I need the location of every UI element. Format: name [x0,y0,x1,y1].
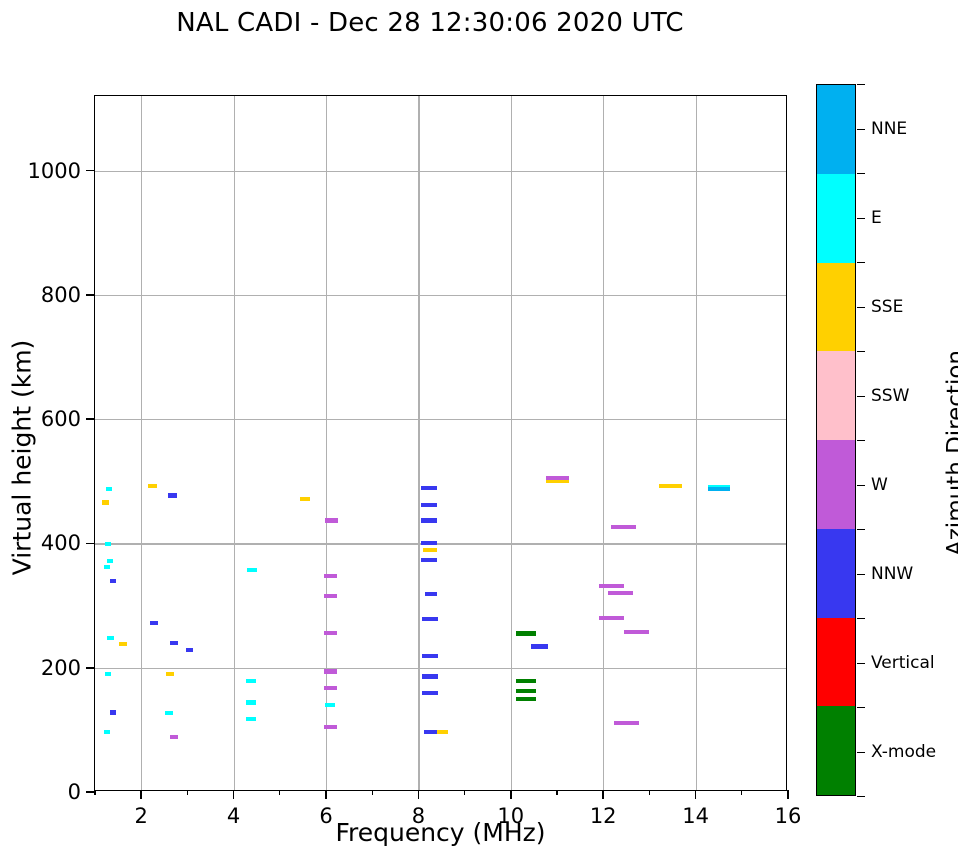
x-gridline [418,96,419,790]
data-marker [422,674,438,678]
x-gridline [696,96,697,790]
data-marker [107,636,114,640]
y-axis-tick-label: 1000 [28,159,81,183]
colorbar-title: Azimuth Direction [943,303,958,603]
data-marker [516,631,536,635]
data-marker [611,525,636,529]
data-marker [516,679,536,683]
x-axis-minor-tick [94,790,95,795]
x-gridline [511,96,512,790]
data-marker [105,672,111,676]
colorbar-segment-sse [817,263,855,352]
data-marker [106,487,112,491]
colorbar-label-sse: SSE [871,297,903,317]
x-axis-tick [418,790,420,799]
y-axis-tick-label: 600 [41,407,81,431]
data-marker [325,703,335,707]
colorbar-segment-nne [817,85,855,174]
colorbar-boundary-tick [857,351,865,352]
data-marker [166,672,174,676]
data-marker [105,542,111,546]
data-marker [421,558,437,562]
y-gridline [95,295,786,296]
data-marker [516,697,536,701]
colorbar-tick [857,396,865,397]
data-marker [423,548,437,552]
data-marker [165,711,173,715]
colorbar-label-w: W [871,475,888,495]
x-axis-tick [695,790,697,799]
data-marker [168,493,177,497]
data-marker [421,503,437,507]
x-axis-minor-tick [741,790,742,795]
data-marker [614,721,639,725]
colorbar-segment-ssw [817,351,855,440]
data-marker [708,487,730,491]
x-axis-title: Frequency (MHz) [94,818,787,847]
colorbar-label-x-mode: X-mode [871,742,936,762]
data-marker [104,565,110,569]
data-marker [170,735,178,739]
data-marker [422,617,438,621]
colorbar-segment-x-mode [817,706,855,795]
colorbar-boundary-tick [857,529,865,530]
y-axis-tick [86,543,95,545]
colorbar-segment-nnw [817,529,855,618]
x-gridline [603,96,604,790]
y-axis-tick [86,418,95,420]
x-axis-tick [602,790,604,799]
colorbar-boundary-tick [857,618,865,619]
x-gridline [234,96,235,790]
data-marker [599,616,624,620]
y-axis-tick-label: 200 [41,656,81,680]
data-marker [624,630,649,634]
colorbar-boundary-tick [857,173,865,174]
data-marker [516,689,536,693]
colorbar-tick [857,129,865,130]
y-axis-tick-label: 400 [41,531,81,555]
x-axis-minor-tick [279,790,280,795]
data-marker [422,654,438,658]
data-marker [110,579,116,583]
data-marker [608,591,633,595]
data-marker [324,669,337,673]
y-axis-tick [86,667,95,669]
data-marker [186,648,193,652]
colorbar-label-vertical: Vertical [871,653,935,673]
data-marker [148,484,157,488]
colorbar-tick [857,574,865,575]
colorbar-tick [857,218,865,219]
data-marker [247,568,257,572]
data-marker [170,641,178,645]
data-marker [102,500,109,504]
x-axis-minor-tick [464,790,465,795]
data-marker [119,642,127,646]
x-axis-minor-tick [649,790,650,795]
y-axis-tick [86,294,95,296]
colorbar-boundary-tick [857,262,865,263]
data-marker [300,497,310,501]
colorbar-segment-e [817,174,855,263]
data-marker [324,574,337,578]
colorbar-segment-w [817,440,855,529]
colorbar-label-nne: NNE [871,119,907,139]
colorbar-segment-vertical [817,618,855,707]
data-marker [324,686,337,690]
data-marker [324,631,337,635]
data-marker [659,484,682,488]
data-marker [421,518,437,522]
colorbar-label-e: E [871,208,882,228]
data-marker [246,700,256,704]
y-gridline [95,171,786,172]
x-gridline [141,96,142,790]
colorbar-label-nnw: NNW [871,564,913,584]
data-marker [425,592,437,596]
data-marker [246,717,256,721]
x-axis-tick [510,790,512,799]
y-gridline [95,419,786,420]
x-axis-minor-tick [372,790,373,795]
colorbar-tick [857,663,865,664]
data-marker [421,541,437,545]
data-marker [150,621,158,625]
y-axis-title: Virtual height (km) [8,248,37,668]
y-axis-tick-label: 800 [41,283,81,307]
data-marker [546,476,569,480]
colorbar-boundary-tick [857,84,865,85]
x-axis-tick [787,790,789,799]
plot-area: 02004006008001000246810121416 [94,95,787,791]
colorbar-boundary-tick [857,796,865,797]
data-marker [422,691,438,695]
colorbar-tick [857,752,865,753]
y-gridline [95,668,786,669]
data-marker [110,710,116,714]
y-axis-tick-label: 0 [68,780,81,804]
data-marker [531,644,548,648]
colorbar-boundary-tick [857,707,865,708]
data-marker [599,584,624,588]
data-marker [104,730,110,734]
y-gridline [95,543,786,544]
colorbar-tick [857,485,865,486]
data-marker [324,725,337,729]
data-marker [424,730,437,734]
data-marker [324,594,337,598]
colorbar-label-ssw: SSW [871,386,909,406]
x-axis-tick [233,790,235,799]
colorbar-tick [857,307,865,308]
data-marker [421,486,437,490]
x-axis-tick [140,790,142,799]
colorbar [816,84,856,796]
y-axis-tick [86,170,95,172]
data-marker [246,679,256,683]
data-marker [325,518,338,522]
colorbar-boundary-tick [857,440,865,441]
x-axis-tick [325,790,327,799]
page-title: NAL CADI - Dec 28 12:30:06 2020 UTC [0,8,860,38]
x-axis-minor-tick [187,790,188,795]
data-marker [107,559,113,563]
x-axis-minor-tick [556,790,557,795]
